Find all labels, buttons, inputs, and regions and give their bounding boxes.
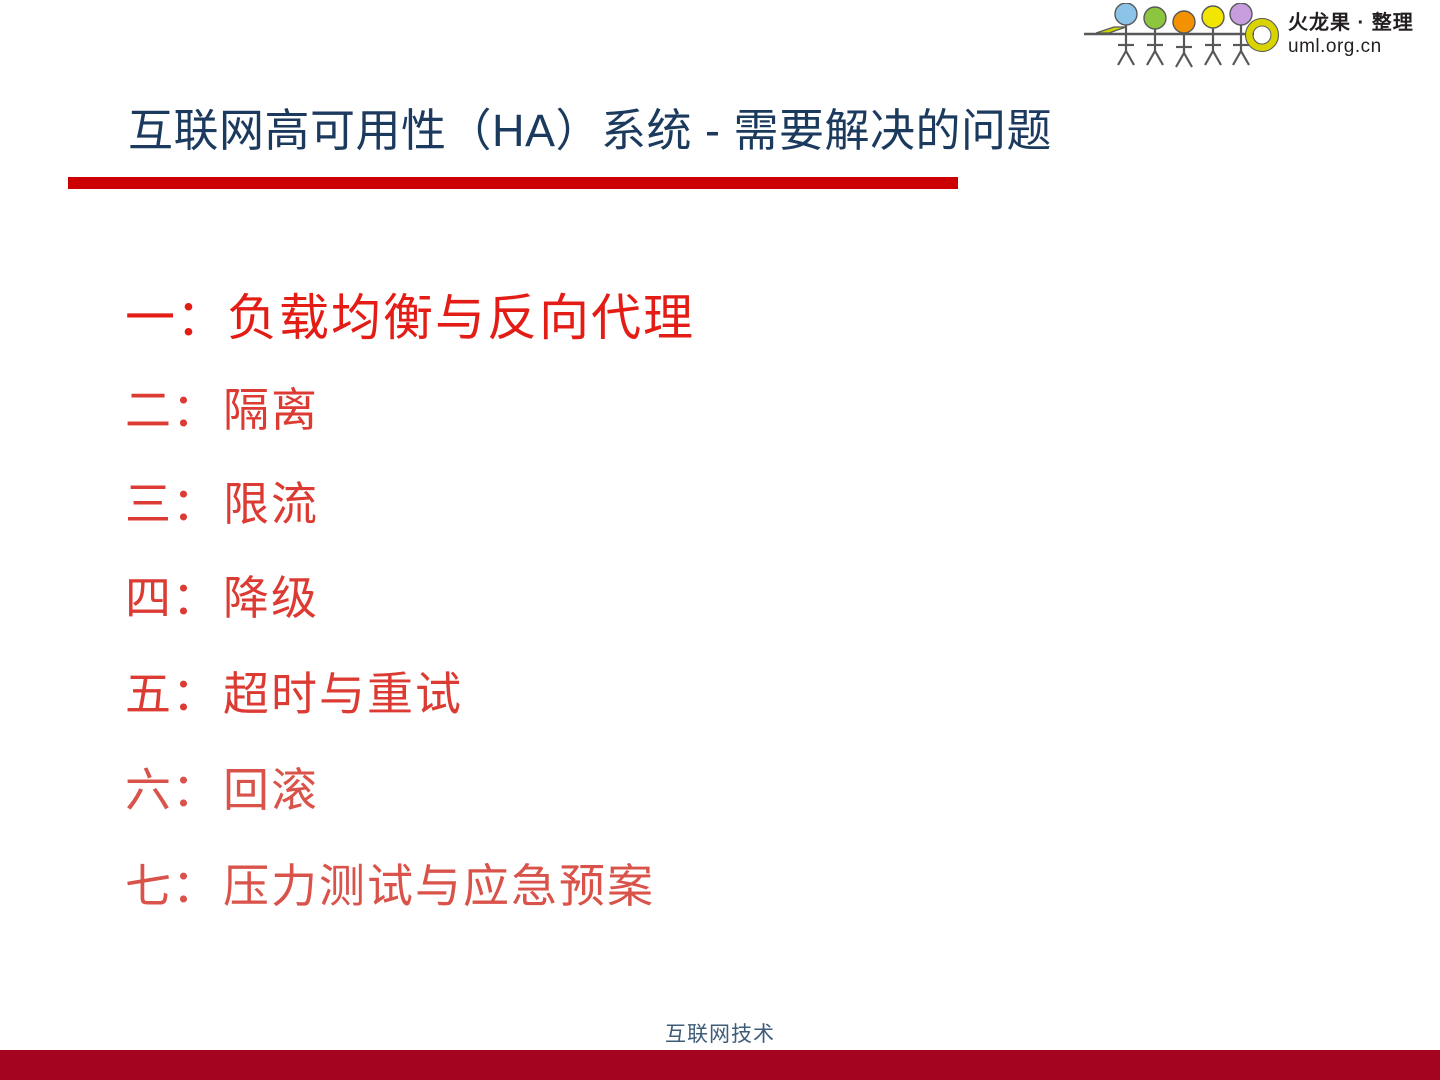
agenda-item-marker: 三： bbox=[125, 468, 223, 534]
agenda-item-marker: 六： bbox=[125, 754, 223, 820]
footer-bar bbox=[0, 1050, 1440, 1080]
agenda-item-label: 限流 bbox=[223, 468, 319, 534]
agenda-item: 二： 隔离 bbox=[125, 374, 1275, 468]
title-underline-rule bbox=[68, 177, 958, 189]
agenda-item-label: 降级 bbox=[223, 562, 319, 628]
agenda-item-marker: 五： bbox=[125, 658, 223, 724]
agenda-item-marker: 四： bbox=[125, 562, 223, 628]
agenda-item: 五： 超时与重试 bbox=[125, 658, 1275, 754]
footer-note: 互联网技术 bbox=[0, 1018, 1440, 1048]
agenda-item-label: 负载均衡与反向代理 bbox=[227, 278, 695, 350]
agenda-item-label: 压力测试与应急预案 bbox=[223, 850, 655, 916]
slide-title: 互联网高可用性（HA）系统 - 需要解决的问题 bbox=[128, 100, 1052, 162]
agenda-item-label: 隔离 bbox=[223, 374, 319, 440]
slide-canvas: 火龙果 · 整理 uml.org.cn 互联网高可用性（HA）系统 - 需要解决… bbox=[0, 0, 1440, 1080]
logo-site-url: uml.org.cn bbox=[1288, 36, 1414, 58]
agenda-item-marker: 一： bbox=[125, 278, 227, 350]
agenda-list: 一： 负载均衡与反向代理 二： 隔离 三： 限流 四： 降级 五： 超时与重试 … bbox=[125, 278, 1275, 940]
agenda-item-label: 回滚 bbox=[223, 754, 319, 820]
agenda-item: 三： 限流 bbox=[125, 468, 1275, 562]
site-logo: 火龙果 · 整理 uml.org.cn bbox=[1082, 2, 1434, 70]
logo-text-block: 火龙果 · 整理 uml.org.cn bbox=[1288, 12, 1414, 60]
agenda-item-label: 超时与重试 bbox=[223, 658, 463, 724]
agenda-item: 七： 压力测试与应急预案 bbox=[125, 850, 1275, 940]
agenda-item-marker: 二： bbox=[125, 374, 223, 440]
agenda-item-marker: 七： bbox=[125, 850, 223, 916]
logo-brand-cn: 火龙果 · 整理 bbox=[1288, 12, 1414, 36]
agenda-item: 一： 负载均衡与反向代理 bbox=[125, 278, 1275, 374]
agenda-item: 四： 降级 bbox=[125, 562, 1275, 658]
five-stick-figures-with-balloons-icon bbox=[1082, 3, 1282, 69]
agenda-item: 六： 回滚 bbox=[125, 754, 1275, 850]
